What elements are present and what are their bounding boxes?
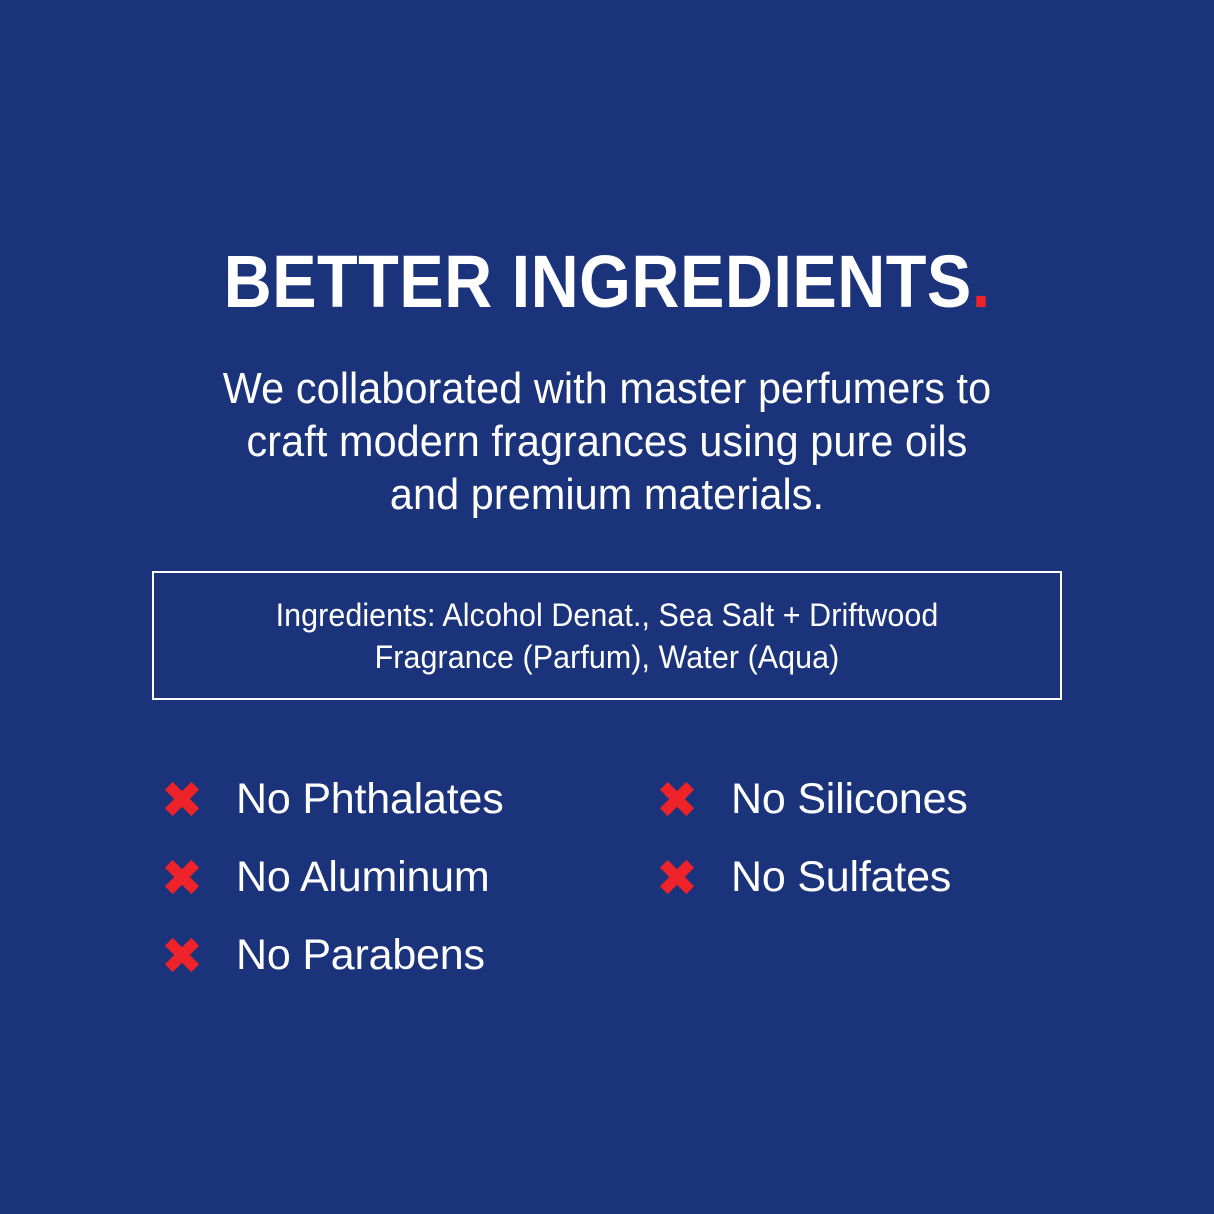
claim-label: No Silicones <box>731 776 968 822</box>
red-x-icon <box>160 777 204 821</box>
headline-period: . <box>972 240 991 323</box>
claim-label: No Aluminum <box>236 854 490 900</box>
subtitle-line-2: craft modern fragrances using pure oils <box>137 415 1077 468</box>
claims-column-left: No Phthalates No Aluminum No Parabens <box>160 760 655 994</box>
ingredients-box: Ingredients: Alcohol Denat., Sea Salt + … <box>152 571 1062 700</box>
red-x-icon <box>160 933 204 977</box>
list-item: No Sulfates <box>655 838 1060 916</box>
red-x-icon <box>655 777 699 821</box>
ingredients-line-2: Fragrance (Parfum), Water (Aqua) <box>177 636 1038 678</box>
list-item: No Phthalates <box>160 760 655 838</box>
list-item: No Parabens <box>160 916 655 994</box>
subtitle-line-3: and premium materials. <box>137 468 1077 521</box>
headline-text: BETTER INGREDIENTS <box>223 240 971 323</box>
claims-column-right: No Silicones No Sulfates <box>655 760 1060 916</box>
claim-label: No Phthalates <box>236 776 504 822</box>
claim-label: No Parabens <box>236 932 485 978</box>
ingredients-text: Ingredients: Alcohol Denat., Sea Salt + … <box>154 594 1060 678</box>
list-item: No Aluminum <box>160 838 655 916</box>
page-title: BETTER INGREDIENTS. <box>223 243 990 321</box>
claims-list: No Phthalates No Aluminum No Parabens <box>160 760 1060 994</box>
red-x-icon <box>160 855 204 899</box>
subtitle-paragraph: We collaborated with master perfumers to… <box>107 362 1107 521</box>
list-item: No Silicones <box>655 760 1060 838</box>
headline-container: BETTER INGREDIENTS. <box>0 243 1214 321</box>
subtitle-line-1: We collaborated with master perfumers to <box>137 362 1077 415</box>
better-ingredients-panel: BETTER INGREDIENTS. We collaborated with… <box>0 0 1214 1214</box>
red-x-icon <box>655 855 699 899</box>
claim-label: No Sulfates <box>731 854 951 900</box>
ingredients-line-1: Ingredients: Alcohol Denat., Sea Salt + … <box>177 594 1038 636</box>
